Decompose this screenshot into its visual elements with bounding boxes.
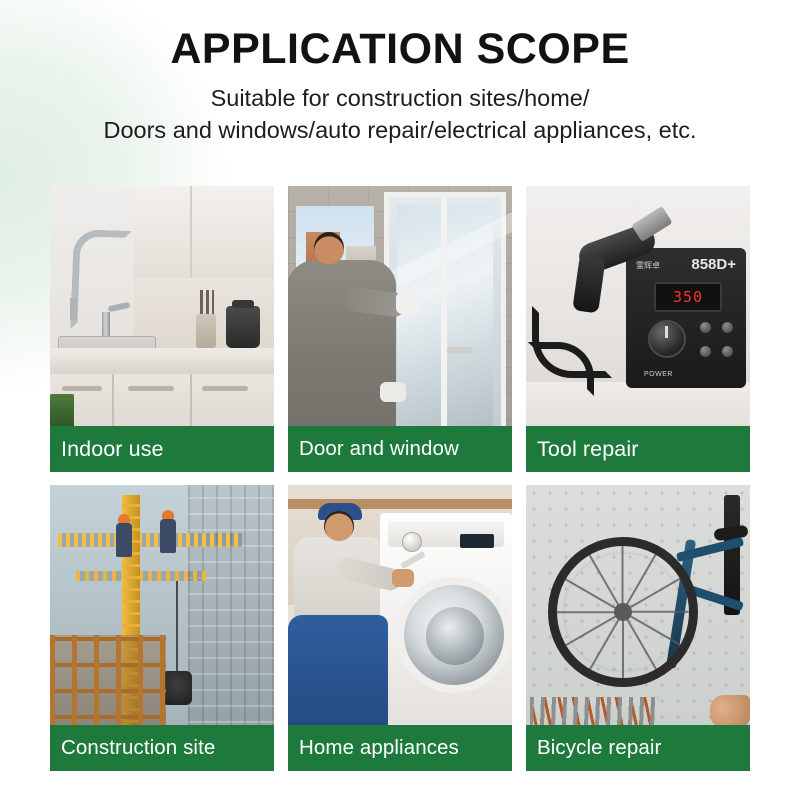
- station-button[interactable]: [700, 322, 711, 333]
- heat-gun-grip: [572, 254, 606, 313]
- subtitle-line-1: Suitable for construction sites/home/: [0, 83, 800, 114]
- worker-glove: [396, 292, 420, 314]
- faucet-arc: [70, 229, 131, 331]
- countertop: [50, 348, 274, 376]
- crane-jib: [58, 533, 242, 547]
- washer-door[interactable]: [396, 577, 512, 693]
- card-caption: Bicycle repair: [526, 725, 750, 771]
- subtitle-line-2: Doors and windows/auto repair/electrical…: [0, 115, 800, 146]
- station-button[interactable]: [722, 346, 733, 357]
- station-model-label: 858D+: [691, 256, 736, 273]
- page-subtitle: Suitable for construction sites/home/ Do…: [0, 83, 800, 146]
- mechanic-hand: [710, 695, 750, 727]
- worker-head: [314, 232, 344, 264]
- cabinet-handle: [128, 386, 174, 391]
- construction-worker: [116, 523, 132, 557]
- application-scope-page: APPLICATION SCOPE Suitable for construct…: [0, 0, 800, 800]
- cabinet-handle: [202, 386, 248, 391]
- power-label: POWER: [644, 371, 673, 378]
- station-button[interactable]: [722, 322, 733, 333]
- washer-drum: [426, 607, 484, 665]
- washer-display: [460, 534, 494, 548]
- utensil-holder-icon: [200, 290, 214, 316]
- application-card[interactable]: Indoor use: [50, 186, 274, 472]
- page-title: APPLICATION SCOPE: [0, 0, 800, 72]
- technician-head: [324, 511, 354, 541]
- station-button[interactable]: [700, 346, 711, 357]
- faucet-spout: [70, 298, 77, 320]
- crane-hook-block: [162, 671, 192, 705]
- wheel-hub: [614, 603, 632, 621]
- application-card[interactable]: Door and window: [288, 186, 512, 472]
- crane-cable: [176, 581, 178, 677]
- application-card-grid: Indoor use: [50, 186, 750, 771]
- technician-hand: [392, 569, 414, 587]
- application-card[interactable]: Home appliances: [288, 485, 512, 771]
- application-card[interactable]: Construction site: [50, 485, 274, 771]
- worker-glove: [380, 382, 406, 402]
- rework-station: 霊辉卓 858D+ 350 POWER: [626, 248, 746, 388]
- card-caption: Tool repair: [526, 426, 750, 472]
- construction-worker: [160, 519, 176, 553]
- temperature-display: 350: [654, 282, 722, 312]
- white-window-frame: [384, 192, 506, 466]
- window-handle: [447, 347, 473, 354]
- application-card[interactable]: 霊辉卓 858D+ 350 POWER Tool repair: [526, 186, 750, 472]
- crane-counter-jib: [76, 571, 206, 581]
- bicycle-wheel: [548, 537, 698, 687]
- cabinet-handle: [62, 386, 102, 391]
- card-caption: Door and window: [288, 426, 512, 472]
- program-dial[interactable]: [402, 532, 422, 552]
- station-brand-label: 霊辉卓: [636, 260, 660, 271]
- control-panel[interactable]: [388, 521, 504, 547]
- plant-accent: [50, 394, 74, 428]
- card-caption: Home appliances: [288, 725, 512, 771]
- application-card[interactable]: Bicycle repair: [526, 485, 750, 771]
- electric-kettle: [226, 306, 260, 348]
- upper-cabinet: [134, 186, 274, 280]
- card-caption: Construction site: [50, 725, 274, 771]
- kitchen-jar: [196, 314, 216, 348]
- card-caption: Indoor use: [50, 426, 274, 472]
- temperature-knob[interactable]: [648, 320, 686, 358]
